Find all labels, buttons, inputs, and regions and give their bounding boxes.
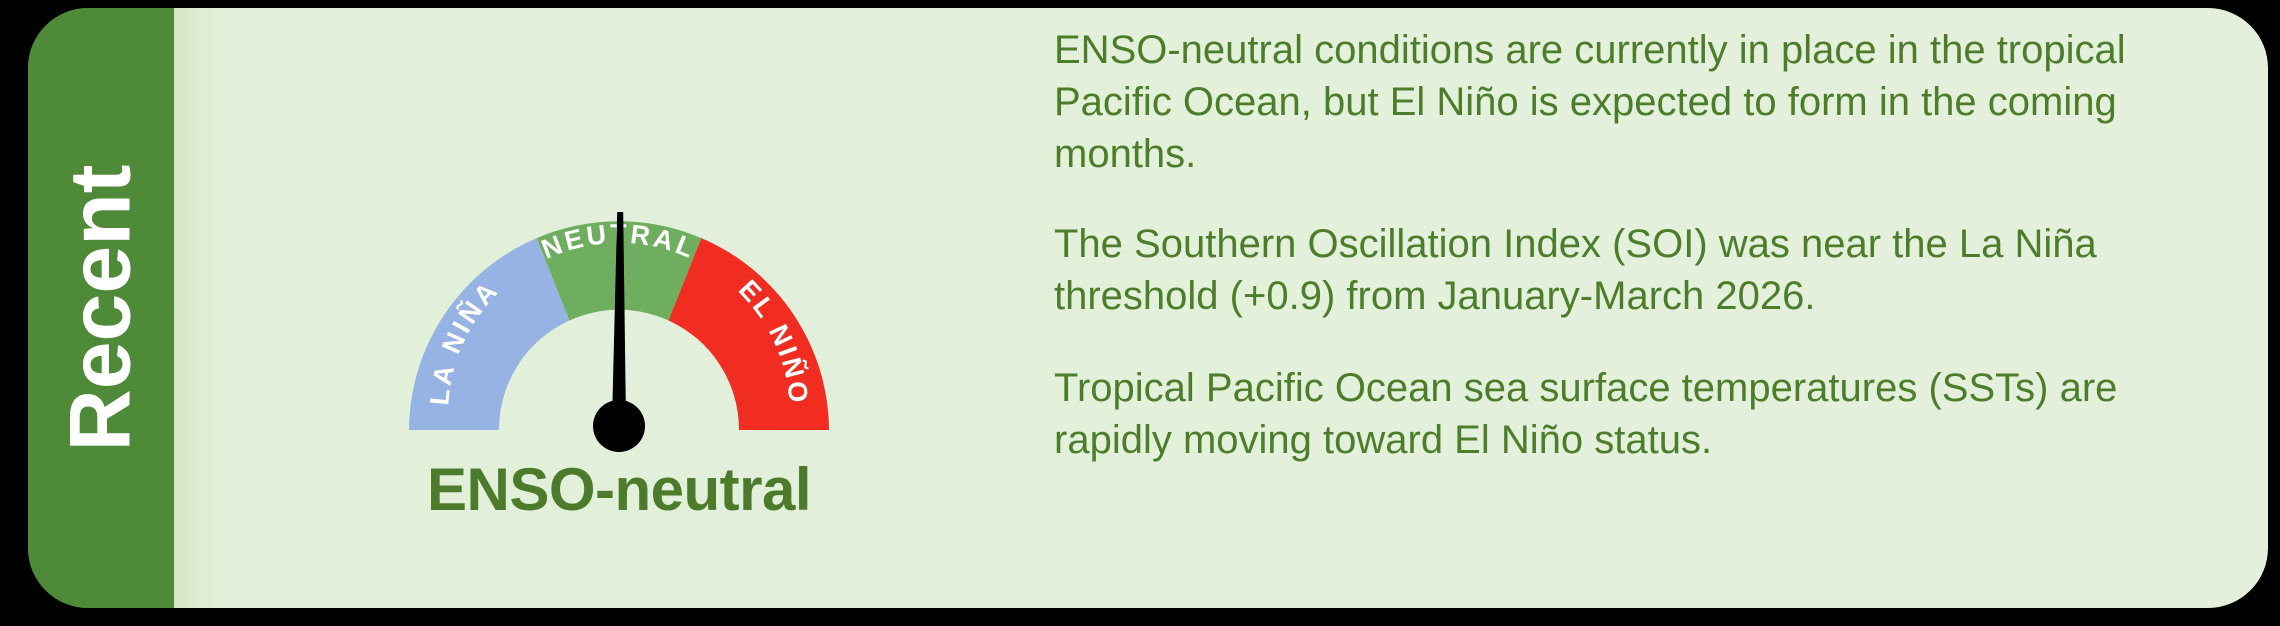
screenshot-root: Recent xyxy=(0,0,2280,626)
summary-text-block: ENSO-neutral conditions are currently in… xyxy=(1054,18,2224,598)
recent-tab-label: Recent xyxy=(52,165,151,452)
gauge-needle-pivot xyxy=(593,400,645,452)
recent-enso-card: Recent xyxy=(28,8,2268,608)
summary-paragraph-2: The Southern Oscillation Index (SOI) was… xyxy=(1054,218,2224,322)
gauge-caption: ENSO-neutral xyxy=(224,455,1014,524)
summary-paragraph-1: ENSO-neutral conditions are currently in… xyxy=(1054,24,2224,180)
gauge-svg: LA NIÑA NEUTRAL EL NIÑO xyxy=(224,8,1014,470)
enso-gauge: LA NIÑA NEUTRAL EL NIÑO ENSO-neutral xyxy=(224,8,1014,600)
content-panel: LA NIÑA NEUTRAL EL NIÑO ENSO-neutral xyxy=(174,8,2268,608)
summary-paragraph-3: Tropical Pacific Ocean sea surface tempe… xyxy=(1054,362,2224,466)
recent-tab[interactable]: Recent xyxy=(28,8,174,608)
